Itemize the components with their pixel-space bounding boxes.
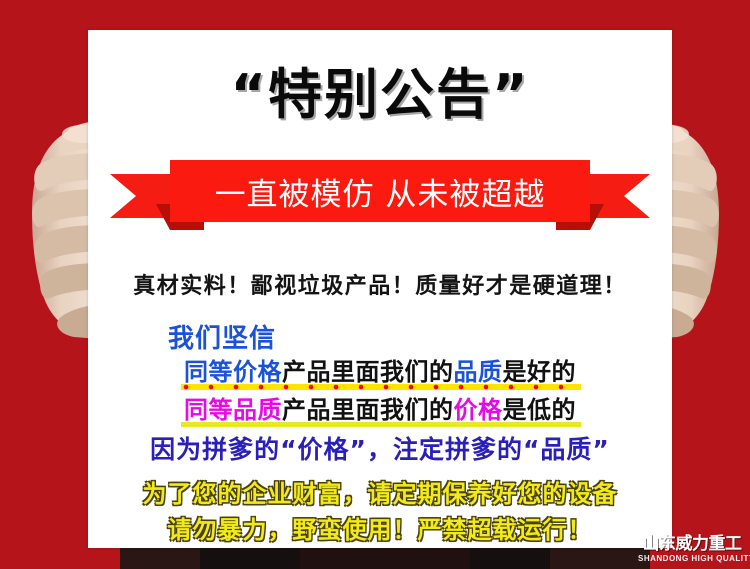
claim-2-mid: 产品里面我们的 bbox=[282, 396, 454, 424]
we-believe-heading: 我们坚信 bbox=[168, 318, 276, 355]
claim-2-accent-start: 同等品质 bbox=[184, 396, 282, 424]
ribbon-body: 一直被模仿 从未被超越 bbox=[170, 160, 590, 222]
slogan-black-serif: 真材实料！鄙视垃圾产品！质量好才是硬道理！ bbox=[88, 268, 672, 300]
claim-1-end: 是好的 bbox=[503, 358, 577, 386]
poster-image: “特别公告” 一直被模仿 从未被超越 真材实料！鄙视垃圾产品！质量好才是硬道理！… bbox=[0, 0, 750, 569]
claim-line-1: 同等价格产品里面我们的品质是好的 bbox=[88, 352, 672, 387]
purple-slogan-line: 因为拼爹的“价格”，注定拼爹的“品质” bbox=[88, 430, 672, 466]
page-title: “特别公告” bbox=[88, 68, 672, 122]
ribbon-text: 一直被模仿 从未被超越 bbox=[215, 169, 546, 214]
claim-line-2: 同等品质产品里面我们的价格是低的 bbox=[88, 390, 672, 425]
white-sign-board: “特别公告” 一直被模仿 从未被超越 真材实料！鄙视垃圾产品！质量好才是硬道理！… bbox=[88, 30, 672, 548]
ribbon-banner: 一直被模仿 从未被超越 bbox=[110, 160, 650, 232]
claim-1-mid: 产品里面我们的 bbox=[282, 358, 454, 386]
claim-2-accent-key: 价格 bbox=[454, 396, 503, 424]
claim-2-end: 是低的 bbox=[503, 396, 577, 424]
yellow-warning-line-1: 为了您的企业财富，请定期保养好您的设备 bbox=[88, 474, 672, 509]
claim-2-underline bbox=[181, 422, 581, 427]
claim-1-accent-start: 同等价格 bbox=[184, 358, 282, 386]
claim-1-accent-key: 品质 bbox=[454, 358, 503, 386]
yellow-warning-line-2: 请勿暴力，野蛮使用！严禁超载运行！ bbox=[88, 510, 672, 545]
